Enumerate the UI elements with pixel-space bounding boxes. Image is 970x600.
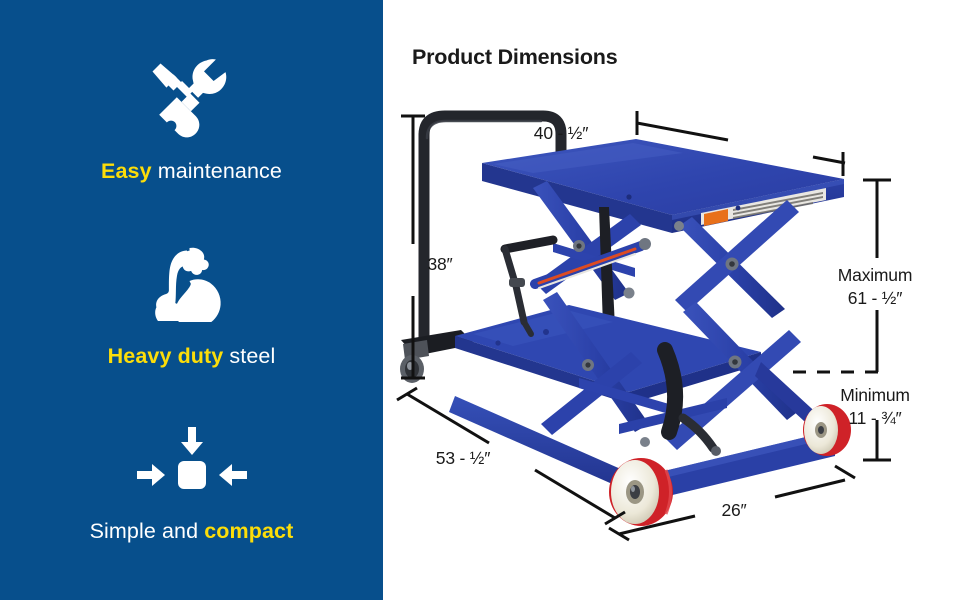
dimension-label-max-height-title: Maximum [817, 265, 933, 286]
product-dimension-diagram: 40 - ½″ 38″ 53 - ½″ 26″ Maximum 61 - ½″ … [383, 0, 957, 600]
feature-rest-text: Simple and [90, 519, 205, 543]
feature-label-simple-and-compact: Simple and compact [90, 519, 294, 544]
flexed-bicep-icon [149, 242, 235, 326]
dimension-label-min-height-value: 11 - ¾″ [817, 408, 933, 429]
feature-highlight-text: Easy [101, 159, 152, 183]
feature-label-heavy-duty-steel: Heavy duty steel [108, 344, 276, 369]
dimensions-panel: Product Dimensions [383, 0, 970, 600]
dimension-label-overall-length: 53 - ½″ [403, 448, 523, 469]
feature-panel: Easy maintenance [0, 0, 383, 600]
tools-wrench-screwdriver-icon [146, 57, 238, 139]
feature-item-heavy-duty-steel: Heavy duty steel [0, 242, 383, 369]
dimension-label-max-height-value: 61 - ½″ [817, 288, 933, 309]
product-infographic: Easy maintenance [0, 0, 970, 600]
feature-item-simple-and-compact: Simple and compact [0, 425, 383, 544]
dimension-label-min-height-title: Minimum [817, 385, 933, 406]
feature-highlight-text: Heavy duty [108, 344, 224, 368]
dimension-label-platform-length: 40 - ½″ [501, 123, 621, 144]
feature-highlight-text: compact [204, 519, 293, 543]
dimension-label-overall-width: 26″ [699, 500, 769, 521]
feature-rest-text: maintenance [152, 159, 282, 183]
dimension-label-handle-height: 38″ [413, 254, 467, 275]
feature-label-easy-maintenance: Easy maintenance [101, 159, 282, 184]
compress-arrows-icon [127, 425, 257, 497]
feature-item-easy-maintenance: Easy maintenance [0, 57, 383, 184]
feature-rest-text: steel [223, 344, 275, 368]
